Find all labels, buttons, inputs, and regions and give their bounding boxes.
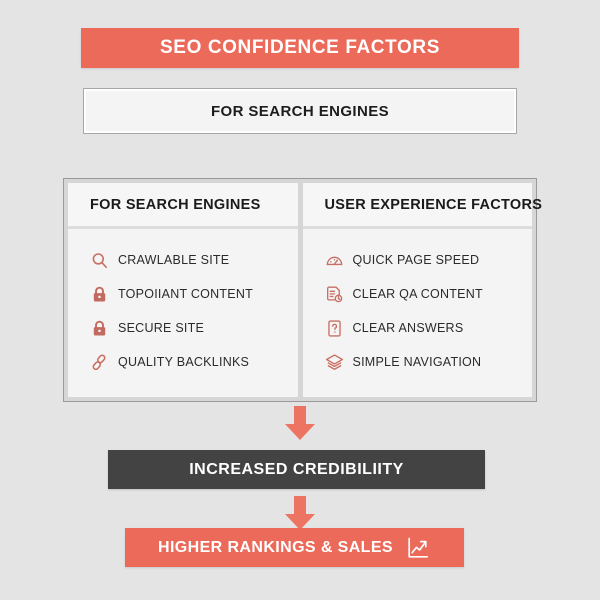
column-user-experience: USER EXPERIENCE FACTORS QUICK PAGE SPEED xyxy=(303,183,533,397)
list-item-label: CLEAR QA CONTENT xyxy=(353,287,483,301)
arrow-shaft xyxy=(294,496,306,515)
factors-panel: FOR SEARCH ENGINES CRAWLABLE SITE xyxy=(63,178,537,402)
down-arrow-icon xyxy=(285,496,315,530)
column-header-label: USER EXPERIENCE FACTORS xyxy=(325,197,543,213)
list-item: CRAWLABLE SITE xyxy=(90,243,288,277)
list-item: TOPOIIANT CONTENT xyxy=(90,277,288,311)
list-item-label: SIMPLE NAVIGATION xyxy=(353,355,482,369)
list-item-label: TOPOIIANT CONTENT xyxy=(118,287,253,301)
list-item: QUICK PAGE SPEED xyxy=(325,243,523,277)
list-item-label: QUICK PAGE SPEED xyxy=(353,253,480,267)
column-body-user-experience: QUICK PAGE SPEED CLEAR QA CONTENT xyxy=(303,229,533,397)
column-search-engines: FOR SEARCH ENGINES CRAWLABLE SITE xyxy=(68,183,298,397)
speedometer-icon xyxy=(325,251,344,270)
link-chain-icon xyxy=(90,353,109,372)
column-header-label: FOR SEARCH ENGINES xyxy=(90,197,261,213)
column-body-search-engines: CRAWLABLE SITE TOPOIIANT CONTENT xyxy=(68,229,298,397)
subtitle-box-label: FOR SEARCH ENGINES xyxy=(211,103,389,120)
list-item-label: CRAWLABLE SITE xyxy=(118,253,229,267)
magnifier-icon xyxy=(90,251,109,270)
list-item-label: CLEAR ANSWERS xyxy=(353,321,464,335)
lock-icon xyxy=(90,319,109,338)
arrow-shaft xyxy=(294,406,306,425)
document-clock-icon xyxy=(325,285,344,304)
title-banner: SEO CONFIDENCE FACTORS xyxy=(81,28,519,68)
list-item: QUALITY BACKLINKS xyxy=(90,345,288,379)
question-document-icon xyxy=(325,319,344,338)
seo-infographic: SEO CONFIDENCE FACTORS FOR SEARCH ENGINE… xyxy=(0,0,600,600)
list-item-label: SECURE SITE xyxy=(118,321,204,335)
list-item-label: QUALITY BACKLINKS xyxy=(118,355,249,369)
list-item: SIMPLE NAVIGATION xyxy=(325,345,523,379)
result-bar-label: INCREASED CREDIBILIITY xyxy=(189,461,404,479)
list-item: SECURE SITE xyxy=(90,311,288,345)
subtitle-box: FOR SEARCH ENGINES xyxy=(83,88,517,134)
title-banner-label: SEO CONFIDENCE FACTORS xyxy=(160,37,440,59)
layers-icon xyxy=(325,353,344,372)
outcome-bar: HIGHER RANKINGS & SALES xyxy=(125,528,464,567)
growth-chart-icon xyxy=(405,536,431,560)
arrow-head xyxy=(285,424,315,440)
list-item: CLEAR QA CONTENT xyxy=(325,277,523,311)
down-arrow-icon xyxy=(285,406,315,440)
outcome-bar-label: HIGHER RANKINGS & SALES xyxy=(158,539,393,557)
lock-icon xyxy=(90,285,109,304)
list-item: CLEAR ANSWERS xyxy=(325,311,523,345)
column-header-user-experience: USER EXPERIENCE FACTORS xyxy=(303,183,533,229)
result-bar: INCREASED CREDIBILIITY xyxy=(108,450,485,489)
column-header-search-engines: FOR SEARCH ENGINES xyxy=(68,183,298,229)
